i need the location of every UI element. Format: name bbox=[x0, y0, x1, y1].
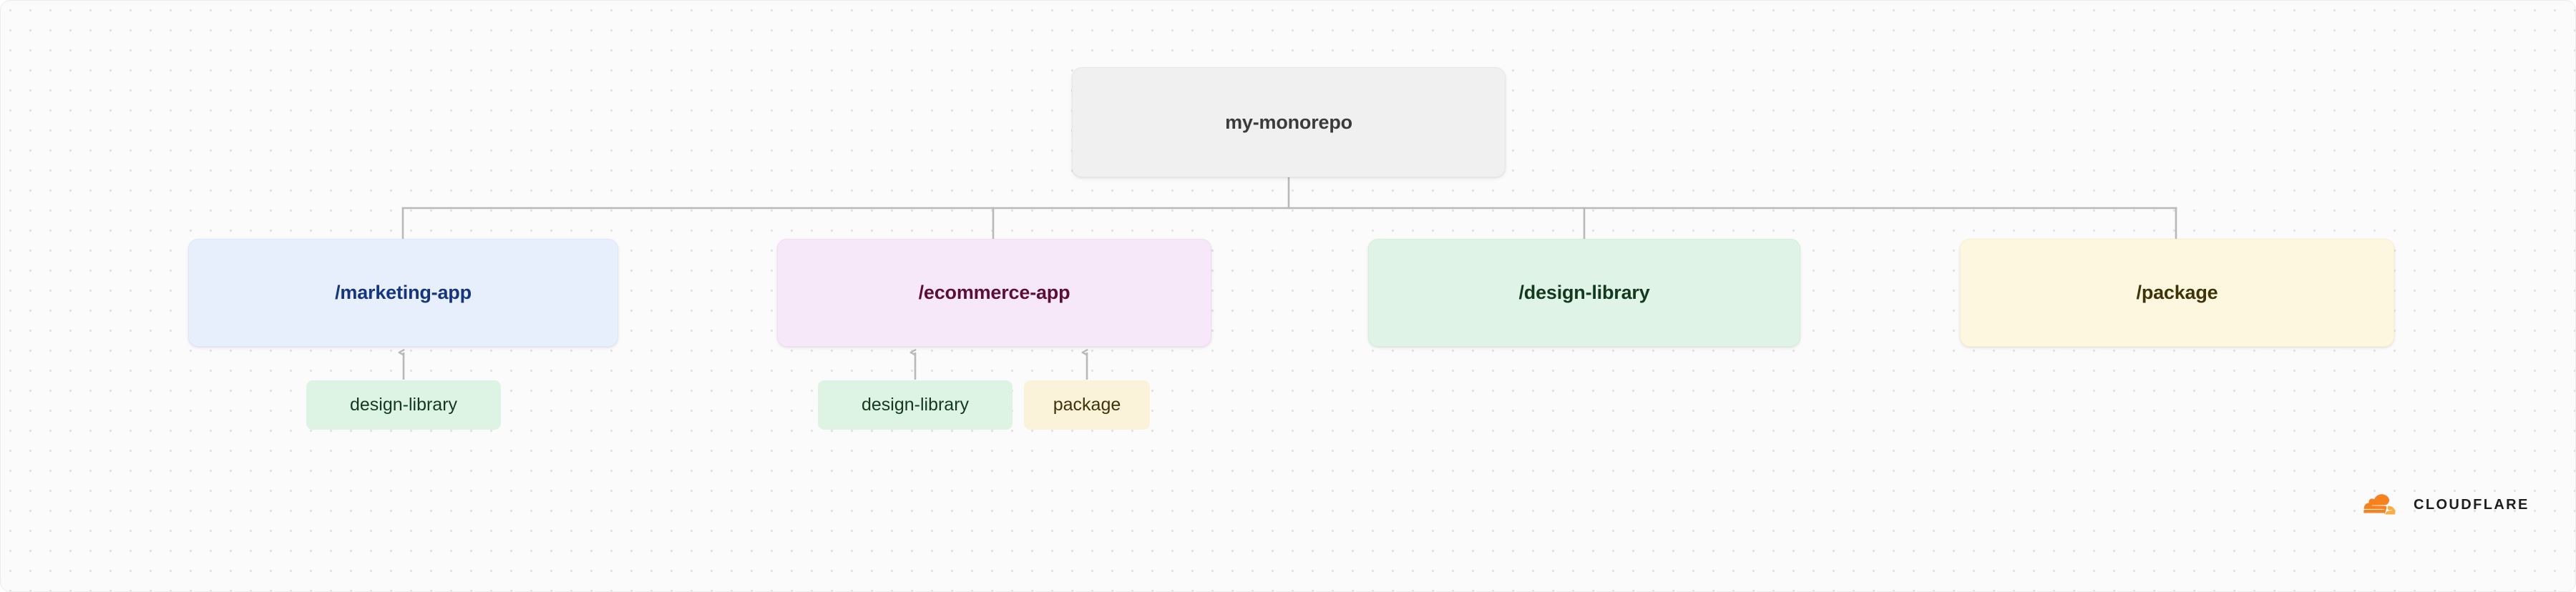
node-ecommerce-app[interactable]: /ecommerce-app bbox=[777, 239, 1211, 347]
chip-ecommerce-package[interactable]: package bbox=[1024, 380, 1150, 430]
node-design-library[interactable]: /design-library bbox=[1368, 239, 1800, 347]
cloudflare-wordmark: CLOUDFLARE bbox=[2414, 497, 2529, 513]
chip-marketing-design-library[interactable]: design-library bbox=[306, 380, 501, 430]
chip-label: design-library bbox=[862, 395, 969, 415]
cloudflare-logo: CLOUDFLARE bbox=[2362, 494, 2529, 515]
cloudflare-cloud-icon bbox=[2362, 494, 2406, 515]
node-label: /ecommerce-app bbox=[919, 282, 1070, 304]
node-label: my-monorepo bbox=[1225, 112, 1352, 134]
node-package[interactable]: /package bbox=[1960, 239, 2394, 347]
node-my-monorepo[interactable]: my-monorepo bbox=[1072, 67, 1506, 177]
chip-label: package bbox=[1053, 395, 1121, 415]
diagram-canvas: my-monorepo /marketing-app /ecommerce-ap… bbox=[0, 0, 2576, 592]
node-marketing-app[interactable]: /marketing-app bbox=[188, 239, 618, 347]
node-label: /package bbox=[2137, 282, 2218, 304]
node-label: /design-library bbox=[1518, 282, 1649, 304]
chip-label: design-library bbox=[350, 395, 457, 415]
node-label: /marketing-app bbox=[335, 282, 472, 304]
chip-ecommerce-design-library[interactable]: design-library bbox=[818, 380, 1013, 430]
